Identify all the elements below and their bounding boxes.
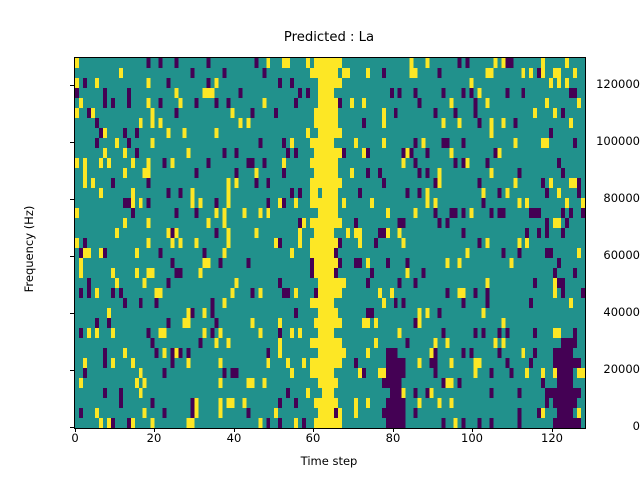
figure-canvas: Predicted : La 0 20000 40000 60000 80000…	[0, 0, 640, 480]
y-tick-label: 80000	[574, 193, 640, 205]
x-tick-label: 80	[363, 433, 423, 445]
x-axis-label: Time step	[74, 454, 584, 468]
y-tick-label: 0	[574, 421, 640, 433]
y-axis-label: Frequency (Hz)	[22, 139, 36, 359]
y-tick-label: 60000	[574, 250, 640, 262]
x-tick-mark	[552, 428, 553, 432]
heatmap-image	[75, 58, 585, 428]
y-tick-label: 100000	[574, 136, 640, 148]
y-tick-mark	[70, 256, 74, 257]
x-tick-mark	[154, 428, 155, 432]
y-tick-label: 20000	[574, 364, 640, 376]
x-tick-label: 100	[442, 433, 502, 445]
y-tick-mark	[70, 313, 74, 314]
y-tick-label: 120000	[574, 79, 640, 91]
x-tick-mark	[472, 428, 473, 432]
x-tick-mark	[313, 428, 314, 432]
x-tick-label: 60	[283, 433, 343, 445]
page-title: Predicted : La	[74, 30, 584, 46]
y-tick-mark	[70, 427, 74, 428]
x-tick-label: 20	[124, 433, 184, 445]
x-tick-label: 120	[522, 433, 582, 445]
x-tick-label: 40	[204, 433, 264, 445]
heatmap-plot-area[interactable]	[74, 57, 586, 429]
x-tick-label: 0	[45, 433, 105, 445]
x-tick-mark	[234, 428, 235, 432]
y-tick-mark	[70, 85, 74, 86]
y-tick-label: 40000	[574, 307, 640, 319]
x-tick-mark	[75, 428, 76, 432]
y-tick-mark	[70, 142, 74, 143]
x-tick-mark	[393, 428, 394, 432]
y-tick-mark	[70, 199, 74, 200]
y-tick-mark	[70, 370, 74, 371]
